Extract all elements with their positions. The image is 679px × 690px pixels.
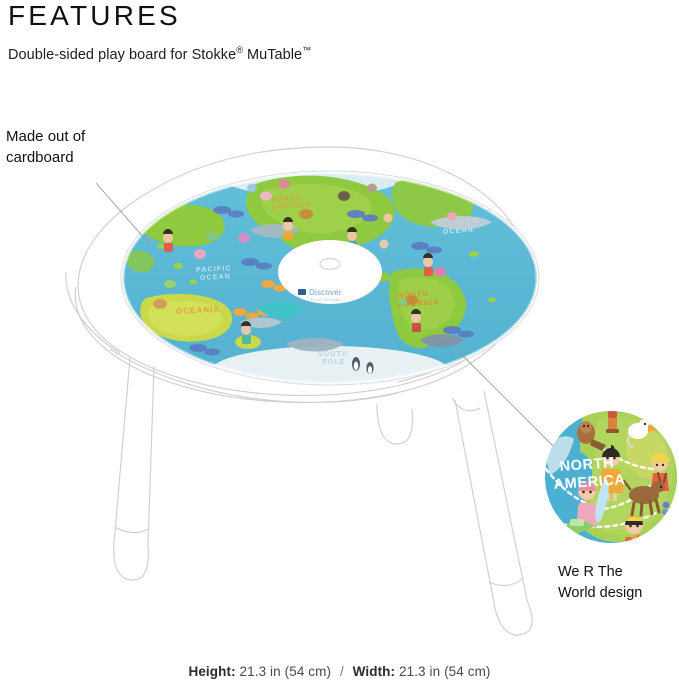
callout-cardboard-line1: Made out of <box>6 126 85 147</box>
leader-line-design <box>457 350 556 449</box>
width-value: 21.3 in (54 cm) <box>399 664 491 679</box>
design-badge: NORTH AMERICA <box>544 409 678 545</box>
height-label: Height: <box>188 664 235 679</box>
svg-text:PLAY BOARD: PLAY BOARD <box>311 297 341 302</box>
callout-design-line1: We R The <box>558 562 679 583</box>
svg-text:Discover: Discover <box>309 288 342 297</box>
svg-text:SOUTH: SOUTH <box>318 351 348 358</box>
callout-design: We R The World design <box>558 562 679 604</box>
callout-cardboard-line2: cardboard <box>6 147 85 168</box>
dimensions-separator: / <box>335 664 349 679</box>
dimensions-footer: Height: 21.3 in (54 cm) / Width: 21.3 in… <box>0 664 679 679</box>
callout-cardboard: Made out of cardboard <box>6 126 85 169</box>
height-value: 21.3 in (54 cm) <box>240 664 332 679</box>
width-label: Width: <box>353 664 395 679</box>
svg-text:POLE: POLE <box>322 359 345 366</box>
callout-design-line2: World design <box>558 583 679 604</box>
